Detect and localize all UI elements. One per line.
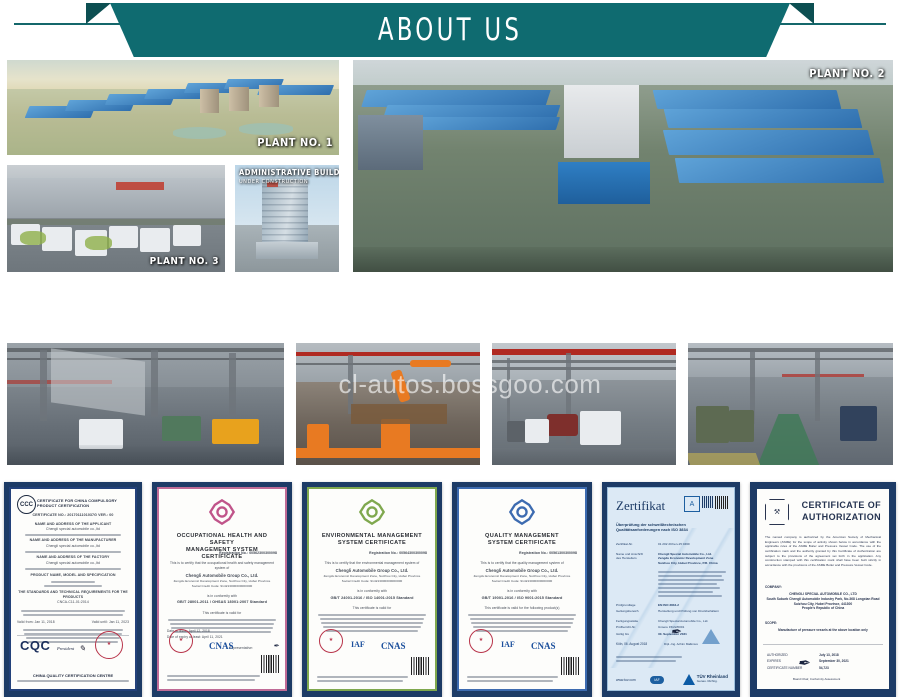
photo-caption-secondary: UNDER CONSTRUCTION: [239, 179, 308, 185]
qr-code: [261, 655, 279, 673]
cert-line: CNCA-C11-01:2014: [17, 600, 129, 605]
qr-code: [411, 657, 429, 675]
page-title: ABOUT US: [378, 12, 522, 48]
cert-valid-to: Valid until: Jan 11, 2023: [92, 620, 129, 625]
cert-line: PRODUCT NAME, MODEL AND SPECIFICATION: [17, 573, 129, 579]
cert-standard: GB/T 19001-2016 / ISO 9001:2015 Standard: [465, 596, 579, 602]
cert-conformity: is in conformity with: [465, 589, 579, 594]
photo-plant-2[interactable]: PLANT NO. 2: [350, 57, 896, 275]
certificate-subtitle: Überprüfung der schweißtechnischen Quali…: [616, 522, 726, 532]
field-label: Geltungsbereich: [616, 609, 658, 614]
certificate-body: QUALITY MANAGEMENT SYSTEM CERTIFICATE Re…: [457, 487, 587, 691]
certificate-body-text: The named company is authorized by the A…: [765, 535, 881, 567]
cnas-logo-icon: CNAS: [531, 641, 556, 651]
cert-intro: This is to certify that the occupational…: [165, 561, 279, 571]
certificate-body: ⚒ CERTIFICATE OF AUTHORIZATION The named…: [755, 487, 891, 691]
field-value: September 30, 2021: [819, 659, 849, 663]
certificate-title: Zertifikat: [616, 498, 665, 514]
asme-mark-icon: ⚒: [765, 499, 789, 525]
cert-credit-code: Social Credit Code: 914213000000000000: [315, 579, 429, 584]
quality-emblem-icon: [509, 499, 535, 525]
iaf-mark-icon: IAF: [650, 676, 664, 684]
tuv-url[interactable]: www.tuv.com: [616, 678, 636, 682]
certificate-title: OCCUPATIONAL HEALTH AND SAFETY MANAGEMEN…: [165, 533, 279, 561]
cert-line: Chengli special automobile co.,ltd: [17, 527, 129, 532]
photo-admin-building[interactable]: ADMINISTRATIVE BUILDING UNDER CONSTRUCTI…: [232, 162, 342, 275]
cert-credit-code: Social Credit Code: 914213000000000000: [165, 584, 279, 589]
photo-caption: PLANT NO. 2: [809, 67, 885, 80]
photo-caption: PLANT NO. 1: [257, 136, 333, 149]
cert-standard: GB/T 24001-2016 / ISO 14001:2015 Standar…: [315, 596, 429, 602]
field-label: Zertifikat-Nr.: [616, 542, 658, 547]
ccc-badge-label: CCC: [20, 502, 33, 508]
registration-number: Registration No.: 00561300300098: [519, 551, 577, 556]
tuv-triangle-icon: [683, 674, 695, 685]
certificate-title: QUALITY MANAGEMENT SYSTEM CERTIFICATE: [465, 533, 579, 547]
signer-name: Dipl.-Ing. Achim Malkmus: [664, 642, 698, 646]
signature-mark: ✒: [273, 642, 279, 650]
field-value: 01 202 2Chen-15 0460: [658, 542, 690, 547]
signature-mark: ✒: [797, 654, 810, 673]
field-value: Herstellung und Prüfung von Druckbehälte…: [658, 609, 719, 614]
photo-caption: PLANT NO. 3: [150, 256, 219, 267]
cnas-logo-icon: CNAS: [381, 641, 406, 651]
certificate-tuv[interactable]: Zertifikat A Überprüfung der schweißtech…: [602, 482, 740, 697]
iaf-logo-icon: IAF: [501, 640, 515, 649]
certificate-body: CCC CERTIFICATE FOR CHINA COMPULSORY PRO…: [9, 487, 137, 691]
accreditation-mark: [702, 496, 713, 508]
registration-number: Registration No.: 00564300300098: [369, 551, 427, 556]
cert-scope-title: This certificate is valid for the follow…: [465, 606, 579, 611]
photo-assembly-line-1[interactable]: [4, 340, 287, 468]
cert-conformity: is in conformity with: [165, 594, 279, 599]
photo-robot-welding[interactable]: [293, 340, 483, 468]
field-label: Fertigungsstätte: [616, 619, 658, 624]
red-seal-icon: ★: [169, 629, 193, 653]
cqc-logo-icon: CQC: [20, 638, 50, 653]
cert-conformity: is in conformity with: [315, 589, 429, 594]
photo-caption: ADMINISTRATIVE BUILDING: [239, 168, 342, 177]
red-seal-icon: ★: [319, 629, 343, 653]
certificate-environmental[interactable]: ENVIRONMENTAL MANAGEMENT SYSTEM CERTIFIC…: [302, 482, 442, 697]
tuv-seal-icon: [702, 629, 720, 644]
field-value: July 13, 2018: [819, 653, 839, 657]
company-label: COMPANY:: [765, 585, 782, 589]
certificate-footer: CHINA QUALITY CERTIFICATION CENTRE: [11, 673, 135, 678]
certificate-quality[interactable]: QUALITY MANAGEMENT SYSTEM CERTIFICATE Re…: [452, 482, 592, 697]
certificate-body: Zertifikat A Überprüfung der schweißtech…: [607, 487, 735, 691]
ccc-logo-icon: CCC: [17, 495, 36, 514]
cert-line: Chengli special automobile co.,ltd: [17, 561, 129, 566]
red-seal-icon: ★: [95, 631, 123, 659]
photo-paint-shop[interactable]: [685, 340, 896, 468]
ribbon-fold-left: [86, 3, 111, 24]
certificate-asme[interactable]: ⚒ CERTIFICATE OF AUTHORIZATION The named…: [750, 482, 896, 697]
cert-scope-title: This certificate is valid for: [315, 606, 429, 611]
field-value: Chengli Special Automobile Co., Ltd. Zen…: [658, 552, 718, 566]
cnas-logo-icon: CNAS: [209, 641, 234, 651]
scope-label: SCOPE:: [765, 621, 777, 625]
dakks-logo-icon: A: [684, 496, 700, 512]
field-label: Prüfbericht-Nr.: [616, 625, 658, 630]
qr-code: [561, 657, 579, 675]
cert-intro: This is to certify that the environmenta…: [315, 561, 429, 566]
scope-value: Manufacture of pressure vessels at the a…: [765, 628, 881, 632]
cert-line: Chengli special automobile co.,ltd: [17, 544, 129, 549]
registration-number: Registration No.: 00562300300098: [219, 551, 277, 556]
field-value: 54,723: [819, 666, 829, 670]
certificate-body: ENVIRONMENTAL MANAGEMENT SYSTEM CERTIFIC…: [307, 487, 437, 691]
red-seal-icon: ★: [469, 629, 493, 653]
field-label: Prüfgrundlage: [616, 603, 658, 608]
certificate-header: CERTIFICATE FOR CHINA COMPULSORY PRODUCT…: [37, 498, 131, 508]
place-and-date: Köln, 06. August 2018: [616, 642, 647, 646]
ribbon-banner: ABOUT US: [110, 3, 790, 57]
field-label: CERTIFICATE NUMBER: [767, 665, 819, 671]
certificate-title: CERTIFICATE OF AUTHORIZATION: [802, 499, 881, 523]
photo-plant-3[interactable]: PLANT NO. 3: [4, 162, 228, 275]
cert-line: THE STANDARDS AND TECHNICAL REQUIREMENTS…: [17, 590, 129, 601]
ohsas-emblem-icon: [209, 499, 235, 525]
ribbon-fold-right: [789, 3, 814, 24]
certificate-ccc[interactable]: CCC CERTIFICATE FOR CHINA COMPULSORY PRO…: [4, 482, 142, 697]
cert-credit-code: Social Credit Code: 914213000000000000: [465, 579, 579, 584]
field-label: Gültig bis: [616, 632, 658, 637]
tuv-slogan: Genau. Richtig.: [697, 680, 728, 683]
certificate-body: OCCUPATIONAL HEALTH AND SAFETY MANAGEMEN…: [157, 487, 287, 691]
cert-intro: This is to certify that the quality mana…: [465, 561, 579, 566]
certificate-title: ENVIRONMENTAL MANAGEMENT SYSTEM CERTIFIC…: [315, 533, 429, 547]
photo-plant-1[interactable]: PLANT NO. 1: [4, 57, 342, 158]
environmental-emblem-icon: [359, 499, 385, 525]
cert-scope-title: This certificate is valid for: [165, 611, 279, 616]
signature-caption: Board Chair, Conformity Assessment: [793, 677, 840, 681]
photo-tanker-line[interactable]: [489, 340, 679, 468]
field-value: EN ISO 3834-2: [658, 603, 679, 608]
page-header: ABOUT US: [0, 0, 900, 57]
qr-code: [715, 496, 728, 509]
cert-line: CERTIFICATE NO.: 2017011101037G VER.: 00: [17, 513, 129, 519]
field-value: Chengli Special Automobile Co., Ltd.: [658, 619, 708, 624]
cert-valid-from: Valid from: Jan 11, 2018: [17, 620, 55, 625]
iaf-logo-icon: IAF: [351, 640, 365, 649]
company-value: CHENGLI SPECIAL AUTOMOBILE CO., LTD Sout…: [765, 592, 881, 611]
signature-mark: ✒: [670, 624, 681, 640]
certificate-ohsas[interactable]: OCCUPATIONAL HEALTH AND SAFETY MANAGEMEN…: [152, 482, 292, 697]
cert-standard: GB/T 28001-2011 / OHSAS 18001:2007 Stand…: [165, 600, 279, 606]
field-label: Name und Anschrift des Herstellers: [616, 552, 658, 566]
